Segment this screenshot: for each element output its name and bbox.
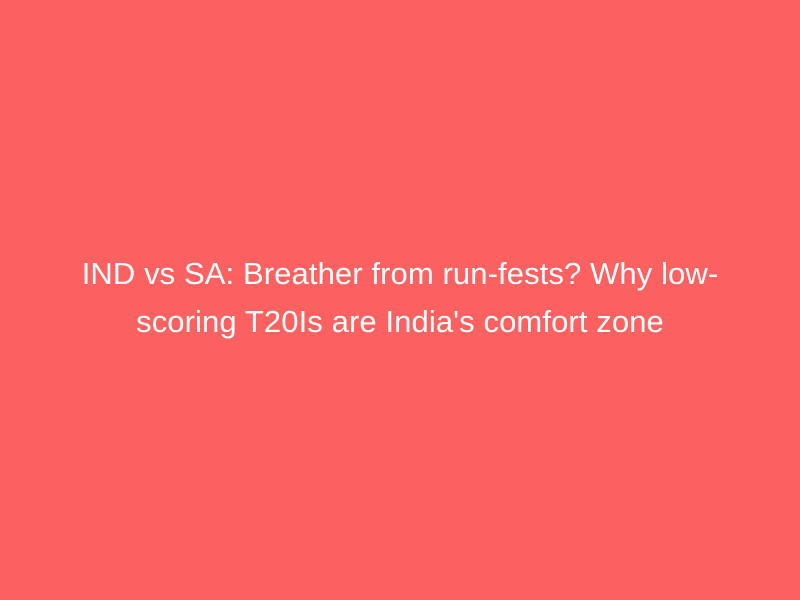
headline-block: IND vs SA: Breather from run-fests? Why … — [0, 250, 800, 346]
page-title: IND vs SA: Breather from run-fests? Why … — [60, 250, 740, 346]
article-headline-card: IND vs SA: Breather from run-fests? Why … — [0, 0, 800, 600]
